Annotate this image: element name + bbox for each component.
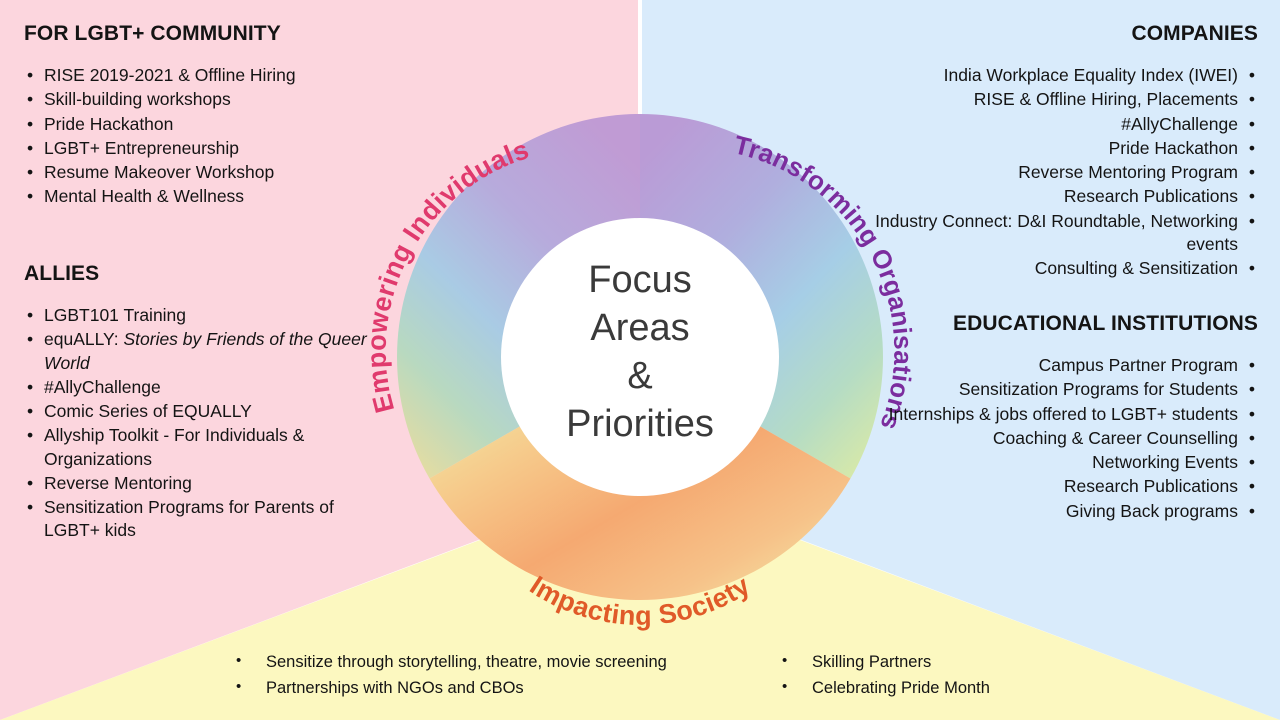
list-item: •Celebrating Pride Month — [778, 676, 990, 702]
panel-companies: COMPANIES India Workplace Equality Index… — [858, 22, 1258, 281]
list-item: •Resume Makeover Workshop — [24, 161, 414, 184]
list-item-label: Reverse Mentoring Program — [1018, 162, 1238, 182]
list-item-label: Research Publications — [1064, 186, 1238, 206]
panel-title-education: EDUCATIONAL INSTITUTIONS — [878, 312, 1258, 336]
list-item: •Allyship Toolkit - For Individuals & Or… — [24, 424, 394, 471]
bullet-icon: • — [1249, 354, 1255, 377]
list-item: Sensitization Programs for Students• — [878, 378, 1258, 401]
list-item-label: Pride Hackathon — [44, 114, 173, 134]
list-item: •LGBT101 Training — [24, 304, 394, 327]
panel-allies: ALLIES •LGBT101 Training •equALLY: Stori… — [24, 262, 394, 544]
list-item-label: RISE 2019-2021 & Offline Hiring — [44, 65, 296, 85]
bullet-icon: • — [782, 649, 787, 672]
list-item: •Skill-building workshops — [24, 88, 414, 111]
list-item-label-prefix: equALLY: — [44, 329, 123, 349]
bullet-icon: • — [1249, 427, 1255, 450]
infographic-canvas: Empowering Individuals Transforming Orga… — [0, 0, 1280, 720]
list-item: Research Publications• — [858, 185, 1258, 208]
list-item-label: Consulting & Sensitization — [1035, 258, 1238, 278]
bullet-icon: • — [1249, 378, 1255, 401]
list-item-label: Campus Partner Program — [1039, 355, 1238, 375]
list-item-label: Networking Events — [1092, 452, 1238, 472]
list-item-label: #AllyChallenge — [1121, 114, 1238, 134]
list-allies: •LGBT101 Training •equALLY: Stories by F… — [24, 304, 394, 543]
list-item: •Sensitize through storytelling, theatre… — [232, 650, 667, 676]
bullet-icon: • — [1249, 475, 1255, 498]
list-item: •Reverse Mentoring — [24, 472, 394, 495]
bullet-icon: • — [27, 328, 33, 351]
list-item-label: Sensitization Programs for Parents of LG… — [44, 497, 334, 540]
bullet-icon: • — [27, 376, 33, 399]
bullet-icon: • — [1249, 210, 1255, 233]
bullet-icon: • — [27, 424, 33, 447]
list-item: •#AllyChallenge — [24, 376, 394, 399]
panel-for-lgbt-community: FOR LGBT+ COMMUNITY •RISE 2019-2021 & Of… — [24, 22, 414, 210]
panel-title-allies: ALLIES — [24, 262, 394, 286]
list-item-label: LGBT+ Entrepreneurship — [44, 138, 239, 158]
list-item: India Workplace Equality Index (IWEI)• — [858, 64, 1258, 87]
list-item-label: Allyship Toolkit - For Individuals & Org… — [44, 425, 304, 468]
list-item: Consulting & Sensitization• — [858, 257, 1258, 280]
bullet-icon: • — [1249, 88, 1255, 111]
list-item: •Partnerships with NGOs and CBOs — [232, 676, 667, 702]
list-education: Campus Partner Program• Sensitization Pr… — [878, 354, 1258, 523]
panel-title-community: FOR LGBT+ COMMUNITY — [24, 22, 414, 46]
list-companies: India Workplace Equality Index (IWEI)• R… — [858, 64, 1258, 280]
list-item: Giving Back programs• — [878, 500, 1258, 523]
list-item-label: Celebrating Pride Month — [812, 679, 990, 697]
bullet-icon: • — [1249, 403, 1255, 426]
bullet-icon: • — [27, 472, 33, 495]
list-item-label: Skill-building workshops — [44, 89, 231, 109]
list-item-label: Mental Health & Wellness — [44, 186, 244, 206]
bullet-icon: • — [1249, 113, 1255, 136]
list-item-label: LGBT101 Training — [44, 305, 186, 325]
panel-educational-institutions: EDUCATIONAL INSTITUTIONS Campus Partner … — [878, 312, 1258, 524]
list-item: •Pride Hackathon — [24, 113, 414, 136]
list-item-label: Resume Makeover Workshop — [44, 162, 274, 182]
list-item: Research Publications• — [878, 475, 1258, 498]
list-item: •RISE 2019-2021 & Offline Hiring — [24, 64, 414, 87]
bullet-icon: • — [27, 400, 33, 423]
list-item-equally: •equALLY: Stories by Friends of the Quee… — [24, 328, 394, 375]
list-item: Networking Events• — [878, 451, 1258, 474]
bullet-icon: • — [1249, 185, 1255, 208]
panel-title-companies: COMPANIES — [858, 22, 1258, 46]
list-item-label: Industry Connect: D&I Roundtable, Networ… — [875, 211, 1238, 254]
center-divider — [638, 0, 642, 482]
bullet-icon: • — [1249, 64, 1255, 87]
bullet-icon: • — [27, 496, 33, 519]
list-item-label: #AllyChallenge — [44, 377, 161, 397]
bullet-icon: • — [236, 675, 241, 698]
bullet-icon: • — [27, 137, 33, 160]
bullet-icon: • — [1249, 257, 1255, 280]
bullet-icon: • — [27, 304, 33, 327]
list-item: Reverse Mentoring Program• — [858, 161, 1258, 184]
list-item: Pride Hackathon• — [858, 137, 1258, 160]
list-item-label: Comic Series of EQUALLY — [44, 401, 252, 421]
bullet-icon: • — [27, 113, 33, 136]
list-item-label: Giving Back programs — [1066, 501, 1238, 521]
list-item: Internships & jobs offered to LGBT+ stud… — [878, 403, 1258, 426]
bullet-icon: • — [782, 675, 787, 698]
bullet-icon: • — [1249, 137, 1255, 160]
bullet-icon: • — [236, 649, 241, 672]
bullet-icon: • — [27, 161, 33, 184]
list-community: •RISE 2019-2021 & Offline Hiring •Skill-… — [24, 64, 414, 209]
list-item: Coaching & Career Counselling• — [878, 427, 1258, 450]
list-item: •Mental Health & Wellness — [24, 185, 414, 208]
list-item-label: Research Publications — [1064, 476, 1238, 496]
list-society-right: •Skilling Partners •Celebrating Pride Mo… — [778, 650, 990, 701]
list-item: RISE & Offline Hiring, Placements• — [858, 88, 1258, 111]
bullet-icon: • — [27, 88, 33, 111]
list-item-label: Reverse Mentoring — [44, 473, 192, 493]
list-item: •Skilling Partners — [778, 650, 990, 676]
list-item-label: Sensitize through storytelling, theatre,… — [266, 653, 667, 671]
bullet-icon: • — [1249, 500, 1255, 523]
bullet-icon: • — [1249, 451, 1255, 474]
list-item: #AllyChallenge• — [858, 113, 1258, 136]
list-item-label: Pride Hackathon — [1109, 138, 1238, 158]
list-item: •Comic Series of EQUALLY — [24, 400, 394, 423]
list-item: •LGBT+ Entrepreneurship — [24, 137, 414, 160]
bullet-icon: • — [27, 64, 33, 87]
list-item: Campus Partner Program• — [878, 354, 1258, 377]
list-item-label: Internships & jobs offered to LGBT+ stud… — [889, 404, 1238, 424]
bullet-icon: • — [27, 185, 33, 208]
list-item-label: Partnerships with NGOs and CBOs — [266, 679, 524, 697]
list-item: Industry Connect: D&I Roundtable, Networ… — [858, 210, 1258, 257]
list-society-left: •Sensitize through storytelling, theatre… — [232, 650, 667, 701]
bullet-icon: • — [1249, 161, 1255, 184]
list-item-label: Sensitization Programs for Students — [959, 379, 1238, 399]
list-item-label: Skilling Partners — [812, 653, 931, 671]
list-item: •Sensitization Programs for Parents of L… — [24, 496, 394, 543]
list-item-label: India Workplace Equality Index (IWEI) — [944, 65, 1238, 85]
list-item-label: Coaching & Career Counselling — [993, 428, 1238, 448]
list-item-label: RISE & Offline Hiring, Placements — [974, 89, 1238, 109]
